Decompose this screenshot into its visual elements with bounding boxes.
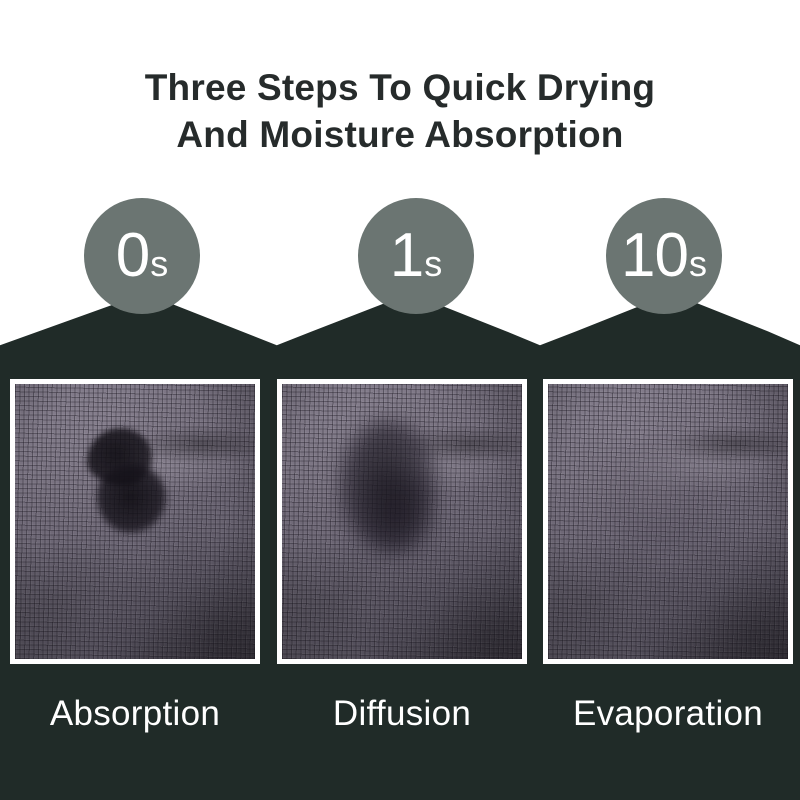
timer-badge-1-unit: s (150, 246, 168, 282)
fabric-photo-evaporation (548, 384, 788, 659)
timer-badge-1-inner: 0 s (116, 225, 168, 287)
step-caption-absorption: Absorption (5, 694, 265, 734)
timer-badge-3-value: 10 (621, 225, 688, 287)
step-caption-diffusion: Diffusion (272, 694, 532, 734)
title-line-2: And Moisture Absorption (0, 111, 800, 158)
page-title: Three Steps To Quick Drying And Moisture… (0, 64, 800, 159)
timer-badge-1-value: 0 (116, 225, 149, 287)
timer-badge-3-unit: s (689, 246, 707, 282)
fabric-photo-absorption (15, 384, 255, 659)
photo-frame-step-3 (543, 379, 793, 664)
timer-badge-2-unit: s (424, 246, 442, 282)
timer-badge-2-value: 1 (390, 225, 423, 287)
photo-vignette-2 (282, 384, 522, 659)
photo-frame-step-2 (277, 379, 527, 664)
step-caption-evaporation: Evaporation (538, 694, 798, 734)
timer-badge-2-inner: 1 s (390, 225, 442, 287)
title-line-1: Three Steps To Quick Drying (0, 64, 800, 111)
timer-badge-3-inner: 10 s (621, 225, 707, 287)
photo-vignette-1 (15, 384, 255, 659)
photo-vignette-3 (548, 384, 788, 659)
timer-badge-step-1: 0 s (84, 198, 200, 314)
timer-badge-step-2: 1 s (358, 198, 474, 314)
fabric-photo-diffusion (282, 384, 522, 659)
photo-frame-step-1 (10, 379, 260, 664)
timer-badge-step-3: 10 s (606, 198, 722, 314)
infographic-root: Three Steps To Quick Drying And Moisture… (0, 0, 800, 800)
